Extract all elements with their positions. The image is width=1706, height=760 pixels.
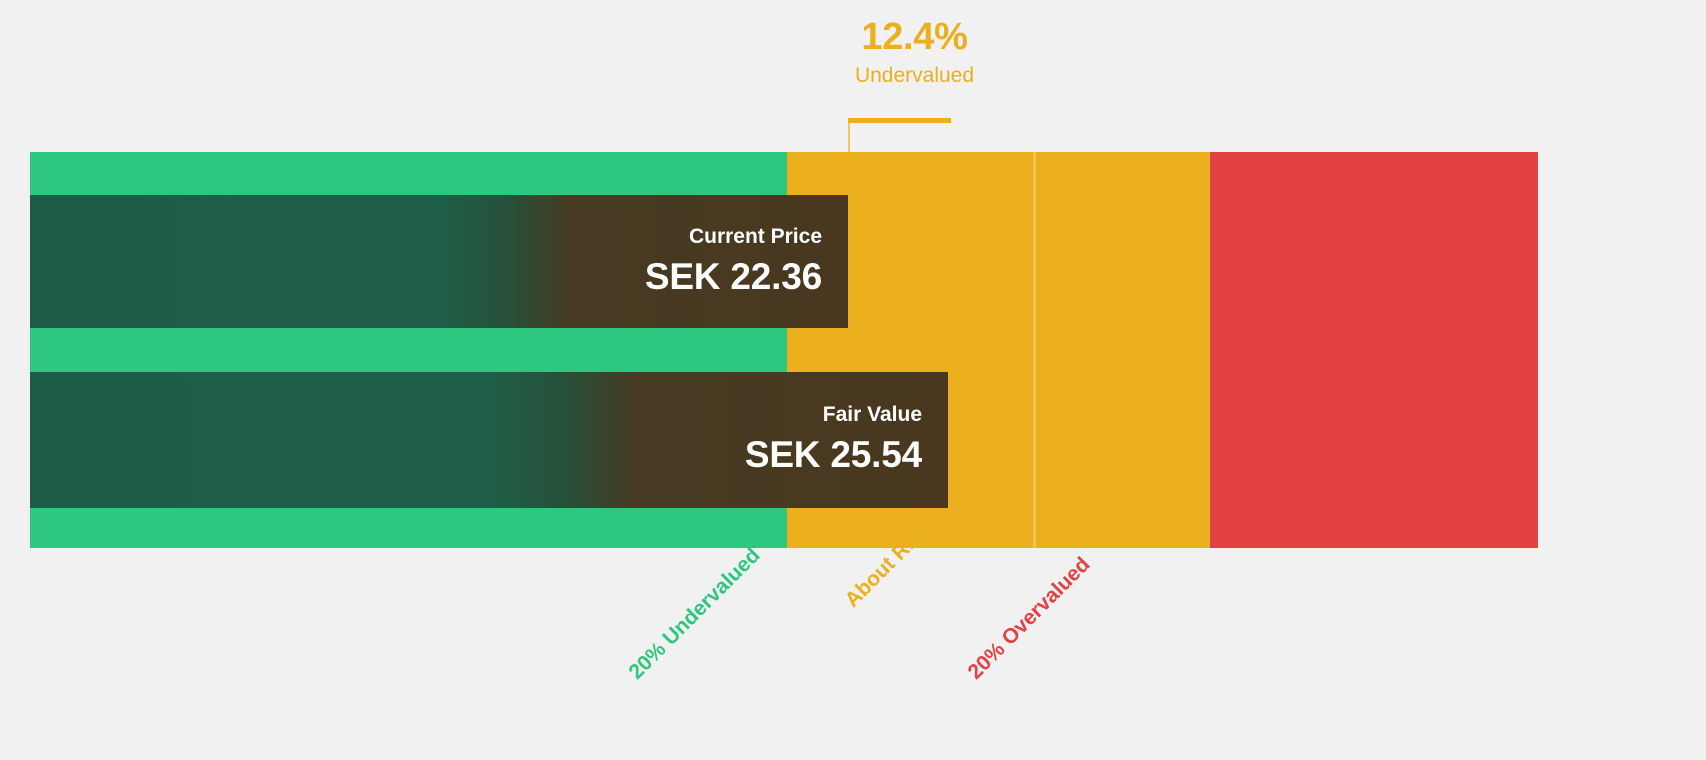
fair-value-title: Fair Value [823, 402, 922, 427]
current-price-value: SEK 22.36 [645, 255, 822, 299]
discount-percent: 12.4% [848, 18, 981, 58]
axis-label-undervalued: 20% Undervalued [625, 544, 766, 685]
callout-pointer-line [848, 123, 850, 155]
about-right-divider [1033, 152, 1036, 548]
valuation-state-label: Undervalued [848, 62, 981, 89]
current-price-title: Current Price [689, 224, 822, 249]
callout-underline [848, 118, 951, 123]
fair-value-bar[interactable]: Fair Value SEK 25.54 [30, 372, 948, 508]
band-overvalued [1210, 152, 1538, 548]
valuation-callout: 12.4% Undervalued [848, 18, 981, 89]
current-price-bar[interactable]: Current Price SEK 22.36 [30, 195, 848, 328]
axis-label-overvalued: 20% Overvalued [964, 553, 1096, 685]
fair-value-value: SEK 25.54 [745, 433, 922, 477]
fair-value-gauge: 12.4% Undervalued Current Price SEK 22.3… [0, 0, 1706, 760]
